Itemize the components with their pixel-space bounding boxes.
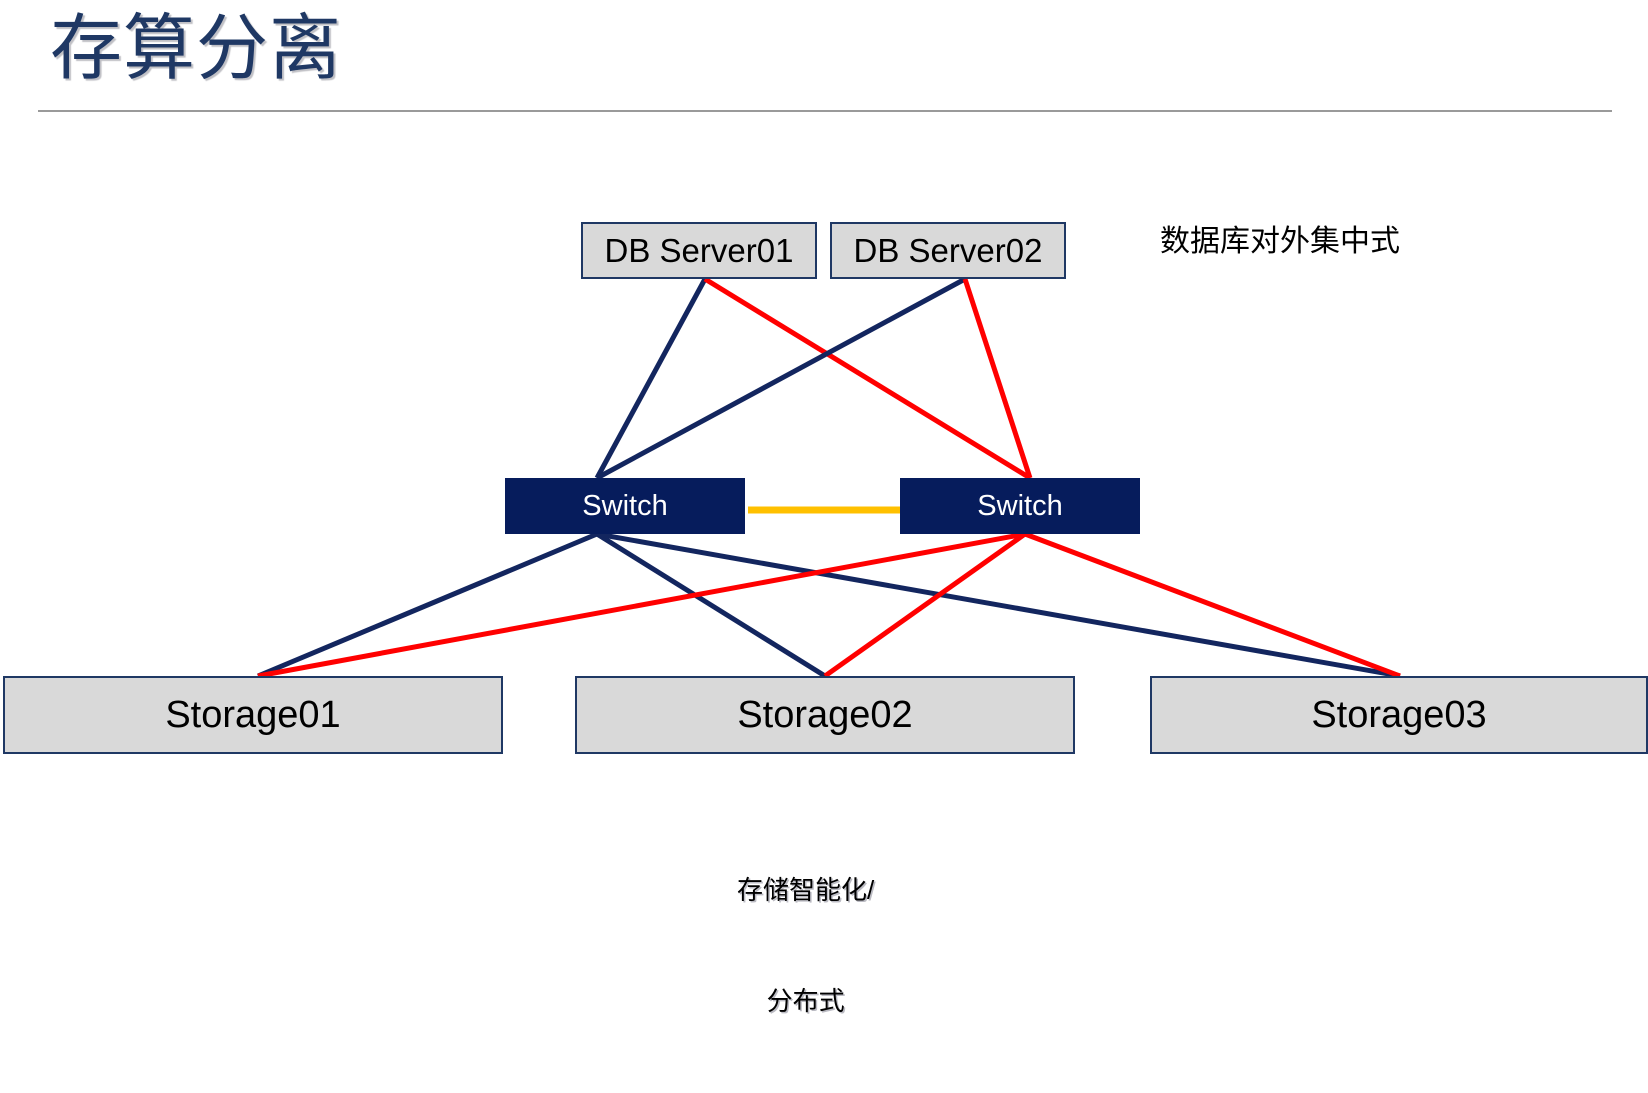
node-db-server-02-label: DB Server02: [854, 232, 1043, 270]
link-db-server-01-to-switch-left: [597, 279, 705, 478]
node-storage-02[interactable]: Storage02: [575, 676, 1075, 754]
annotation-database-tier: 数据库对外集中式: [1160, 222, 1400, 263]
page-title: 存算分离: [50, 8, 342, 91]
node-switch-right-label: Switch: [977, 490, 1062, 523]
node-switch-left-label: Switch: [582, 490, 667, 523]
annotation-storage-tier-line-1: 存储智能化/: [737, 872, 874, 909]
node-storage-03-label: Storage03: [1311, 694, 1486, 737]
annotation-storage-tier: 存储智能化/ 分布式: [737, 798, 874, 1093]
node-storage-01-label: Storage01: [165, 694, 340, 737]
link-db-server-02-to-switch-right: [965, 279, 1030, 478]
link-switch-right-to-storage-03: [1025, 534, 1400, 676]
node-storage-02-label: Storage02: [737, 694, 912, 737]
link-switch-left-to-storage-01: [258, 534, 597, 676]
node-storage-01[interactable]: Storage01: [3, 676, 503, 754]
link-switch-right-to-storage-01: [258, 534, 1025, 676]
annotation-storage-tier-line-2: 分布式: [737, 983, 874, 1020]
node-db-server-01[interactable]: DB Server01: [581, 222, 817, 279]
link-switch-left-to-storage-02: [597, 534, 825, 676]
node-db-server-01-label: DB Server01: [605, 232, 794, 270]
node-switch-right[interactable]: Switch: [900, 478, 1140, 534]
link-switch-left-to-storage-03: [597, 534, 1400, 676]
node-db-server-02[interactable]: DB Server02: [830, 222, 1066, 279]
link-switch-right-to-storage-02: [825, 534, 1025, 676]
link-db-server-02-to-switch-left: [597, 279, 965, 478]
node-switch-left[interactable]: Switch: [505, 478, 745, 534]
title-divider: [38, 110, 1612, 112]
node-storage-03[interactable]: Storage03: [1150, 676, 1648, 754]
link-db-server-01-to-switch-right: [705, 279, 1030, 478]
slide-canvas: 存算分离 DB Server01 DB Server02 Switch Swit…: [0, 0, 1648, 886]
